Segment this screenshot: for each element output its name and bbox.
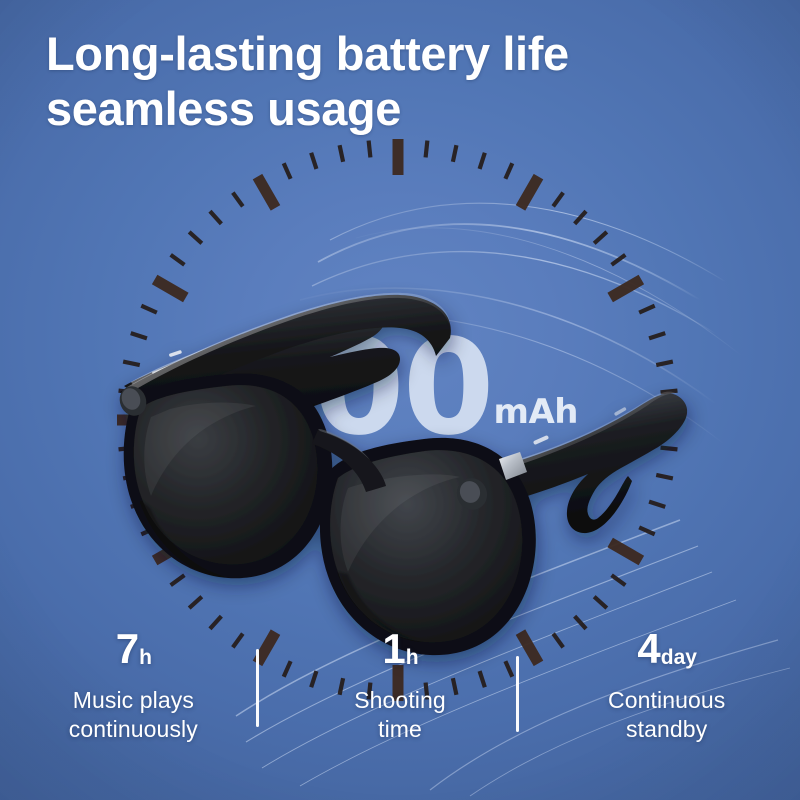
stat-figure: 1h [267, 628, 534, 670]
stat-figure: 7h [0, 628, 267, 670]
spec-stats-row: 7h Music plays continuously 1h Shooting … [0, 628, 800, 778]
stat-shooting-time: 1h Shooting time [267, 628, 534, 745]
stat-suffix: day [661, 646, 697, 669]
stat-caption-line-2: standby [533, 715, 800, 744]
stat-number: 4 [637, 625, 659, 672]
stat-continuous-standby: 4day Continuous standby [533, 628, 800, 745]
stat-divider-right [516, 656, 519, 732]
stat-caption: Shooting time [267, 686, 534, 745]
stat-number: 7 [116, 625, 138, 672]
stat-number: 1 [382, 625, 404, 672]
stat-suffix: h [139, 646, 152, 669]
stat-divider-left [256, 649, 259, 727]
headline-line-2: seamless usage [46, 81, 746, 136]
page-title: Long-lasting battery life seamless usage [46, 26, 746, 137]
stat-caption-line-2: time [267, 715, 534, 744]
stat-caption: Music plays continuously [0, 686, 267, 745]
stat-figure: 4day [533, 628, 800, 670]
stat-music-playback: 7h Music plays continuously [0, 628, 267, 745]
stat-suffix: h [406, 646, 419, 669]
stat-caption-line-1: Shooting [267, 686, 534, 715]
stat-caption: Continuous standby [533, 686, 800, 745]
stat-caption-line-1: Continuous [533, 686, 800, 715]
stat-caption-line-2: continuously [0, 715, 267, 744]
headline-line-1: Long-lasting battery life [46, 26, 746, 81]
product-feature-banner: 300mAh [0, 0, 800, 800]
stat-caption-line-1: Music plays [0, 686, 267, 715]
